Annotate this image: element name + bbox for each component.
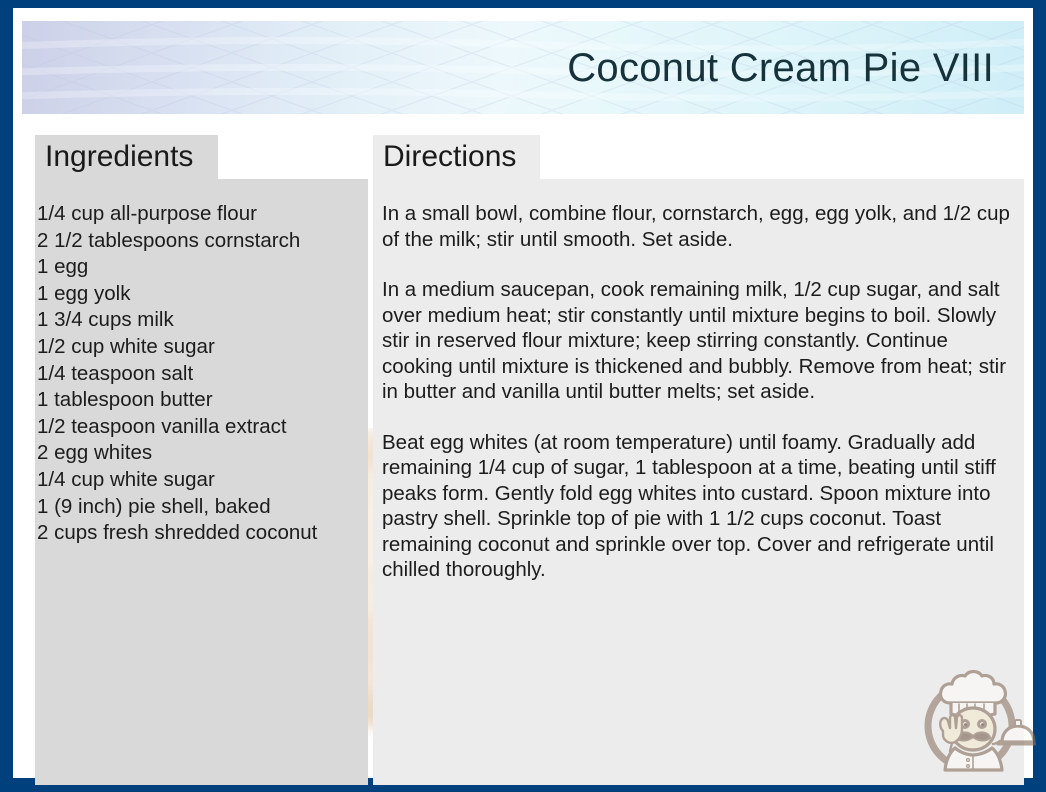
ingredient-item: 1/4 cup white sugar — [37, 467, 362, 494]
ingredient-item: 1 egg — [37, 254, 362, 281]
directions-heading: Directions — [383, 140, 516, 174]
ingredient-item: 1 tablespoon butter — [37, 387, 362, 414]
page-title: Coconut Cream Pie VIII — [567, 47, 994, 89]
chef-mascot-logo — [910, 656, 1036, 782]
direction-step: In a small bowl, combine flour, cornstar… — [382, 201, 1023, 252]
ingredients-list: 1/4 cup all-purpose flour2 1/2 tablespoo… — [37, 201, 362, 547]
directions-steps: In a small bowl, combine flour, cornstar… — [382, 201, 1023, 583]
ingredient-item: 1 3/4 cups milk — [37, 307, 362, 334]
direction-step: In a medium saucepan, cook remaining mil… — [382, 277, 1023, 405]
ingredients-section-tab: Ingredients — [35, 135, 218, 179]
directions-section-tab: Directions — [373, 135, 540, 179]
ingredient-item: 2 1/2 tablespoons cornstarch — [37, 228, 362, 255]
ingredient-item: 1/4 teaspoon salt — [37, 361, 362, 388]
ingredient-item: 2 cups fresh shredded coconut — [37, 520, 362, 547]
title-banner: Coconut Cream Pie VIII — [22, 21, 1024, 114]
slide-frame: Coconut Cream Pie VIII Ingredients 1/4 c… — [0, 0, 1046, 792]
ingredient-item: 1/2 teaspoon vanilla extract — [37, 414, 362, 441]
direction-step: Beat egg whites (at room temperature) un… — [382, 430, 1023, 583]
ingredient-item: 1 egg yolk — [37, 281, 362, 308]
ingredient-item: 1 (9 inch) pie shell, baked — [37, 494, 362, 521]
ingredients-panel: 1/4 cup all-purpose flour2 1/2 tablespoo… — [35, 179, 368, 785]
ingredient-item: 2 egg whites — [37, 440, 362, 467]
ingredient-item: 1/4 cup all-purpose flour — [37, 201, 362, 228]
ingredient-item: 1/2 cup white sugar — [37, 334, 362, 361]
recipe-card-page: Coconut Cream Pie VIII Ingredients 1/4 c… — [13, 8, 1033, 778]
ingredients-heading: Ingredients — [45, 140, 193, 174]
